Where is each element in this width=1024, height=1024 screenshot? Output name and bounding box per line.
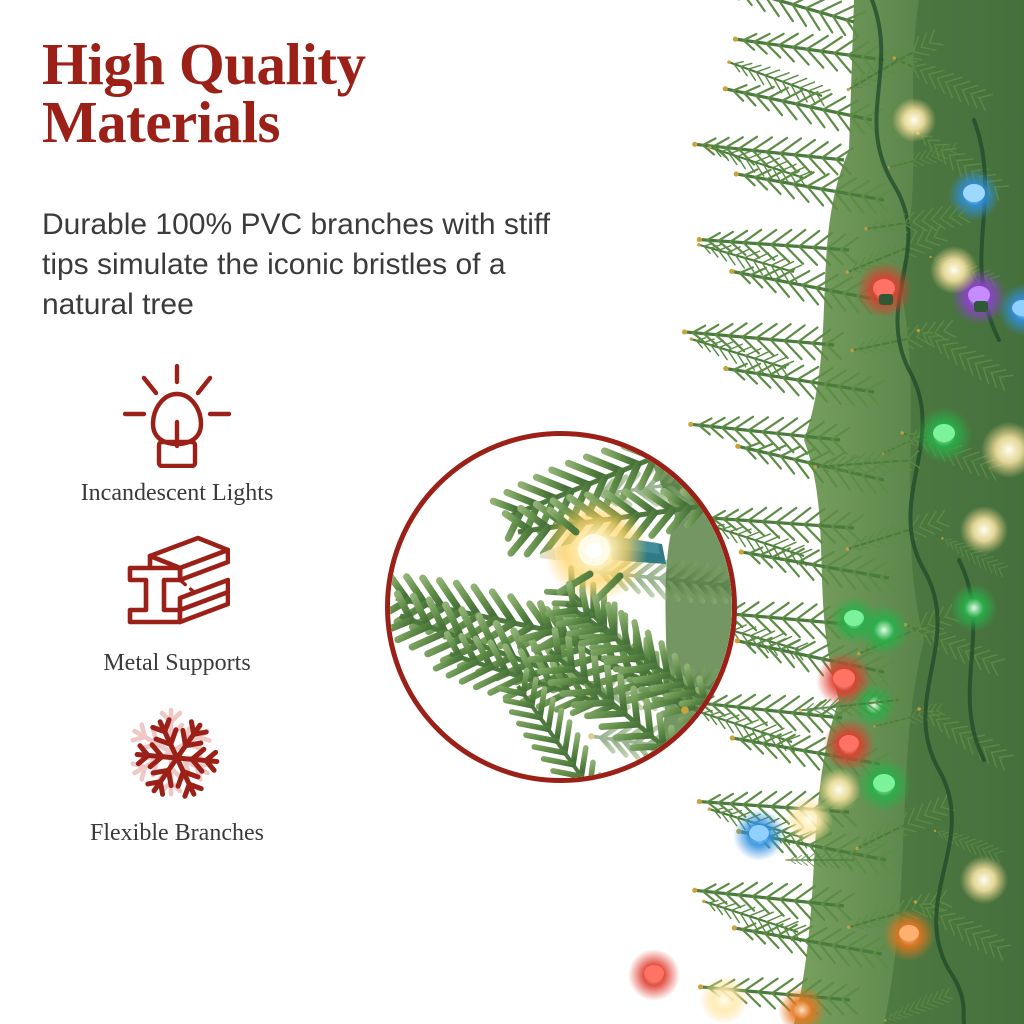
feature-item-flexible-branches: Flexible Branches xyxy=(42,700,312,848)
branch-detail-image xyxy=(390,436,732,778)
page-title: High Quality Materials xyxy=(42,36,512,152)
feature-item-metal-supports: Metal Supports xyxy=(42,530,312,678)
feature-label-incandescent-lights: Incandescent Lights xyxy=(81,478,274,508)
page-title-line-1: High Quality xyxy=(42,36,512,94)
page-title-line-2: Materials xyxy=(42,94,512,152)
feature-list: Incandescent Lights Metal Supports xyxy=(42,360,312,871)
page-subtitle: Durable 100% PVC branches with stiff tip… xyxy=(42,205,562,325)
snowflake-icon xyxy=(117,700,237,812)
feature-label-metal-supports: Metal Supports xyxy=(103,648,250,678)
branch-detail-magnifier xyxy=(385,431,737,783)
magnified-branch-illustration xyxy=(390,436,732,778)
feature-label-flexible-branches: Flexible Branches xyxy=(90,818,264,848)
incandescent-bulb-icon xyxy=(117,360,237,472)
i-beam-icon xyxy=(117,530,237,642)
feature-item-incandescent-lights: Incandescent Lights xyxy=(42,360,312,508)
